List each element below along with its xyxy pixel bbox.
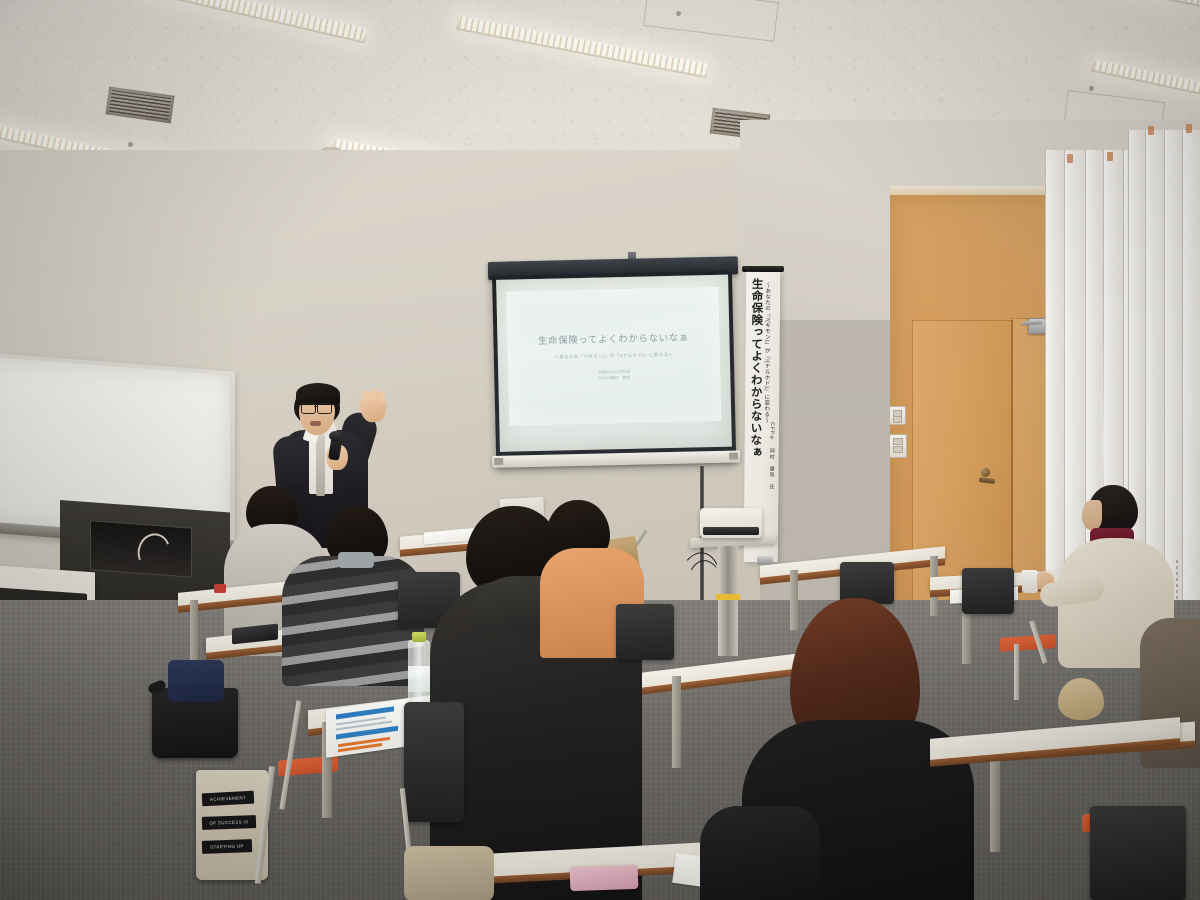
bottle-cap[interactable] [412, 632, 426, 642]
projection-screen-surface: 生命保険ってよくわからないなぁ ～あなたの「?(ギモン)」が「!(ナルホド)」に… [496, 275, 732, 452]
blind-clip-icon [1107, 152, 1113, 161]
tote-label-line2: OF SUCCESS IS [202, 815, 256, 830]
chair-frame [1014, 644, 1019, 700]
screen-bar-end-left [494, 458, 503, 465]
glasses-icon [301, 403, 316, 414]
slide-subtitle: ～あなたの「?(ギモン)」が「!(ナルホド)」に変わる～ [554, 352, 674, 361]
chair[interactable] [404, 702, 464, 822]
handbag[interactable] [1058, 678, 1104, 720]
projector-front-panel [703, 527, 759, 535]
banner-sub-text: ～あなたの「?(ギモン)」が「!(ナルホド)」に変わる～ [763, 282, 770, 423]
water-bottle[interactable] [408, 640, 430, 706]
blind-clip-icon [1148, 126, 1154, 135]
audience-trousers [404, 846, 494, 900]
desk-leg [990, 752, 1000, 852]
blue-bag[interactable] [168, 660, 224, 702]
audience-person [700, 806, 820, 900]
presenter-finger [370, 388, 377, 402]
glasses-bridge-icon [314, 406, 317, 407]
tote-label-line3: STARTING UP [202, 839, 252, 854]
paper-cup[interactable] [1022, 570, 1037, 590]
light-switch[interactable] [889, 434, 907, 458]
presenter-tie [316, 434, 325, 496]
ceiling-fixture-dot [676, 11, 681, 16]
projection-screen: 生命保険ってよくわからないなぁ ～あなたの「?(ギモン)」が「!(ナルホド)」に… [492, 271, 736, 468]
seminar-room-photo: 生命保険ってよくわからないなぁ ～あなたの「?(ギモン)」が「!(ナルホド)」に… [0, 0, 1200, 900]
glasses-icon [317, 403, 332, 414]
banner-main-text: 生命保険ってよくわからないなぁ [749, 278, 762, 458]
ceiling-fixture-dot [1089, 86, 1094, 91]
projector[interactable] [700, 508, 762, 538]
light-switch[interactable] [889, 406, 906, 425]
audience-neck [338, 552, 374, 568]
bottle-label [408, 666, 430, 692]
screen-bar-end-right [729, 452, 738, 459]
presentation-slide: 生命保険ってよくわからないなぁ ～あなたの「?(ギモン)」が「!(ナルホド)」に… [506, 287, 721, 426]
chair[interactable] [1090, 806, 1186, 900]
presenter-finger [379, 391, 386, 403]
ceiling-fixture-dot [128, 142, 133, 147]
small-object-on-desk[interactable] [214, 584, 226, 593]
banner-credential-text: CFP® 岡村 健司 氏 [768, 422, 775, 490]
desk-leg [790, 570, 798, 630]
tote-label-line1: ACHIEVEMENT [202, 791, 255, 807]
presenter-hair-top [296, 383, 340, 405]
chair[interactable] [962, 568, 1014, 614]
desk-leg [672, 676, 681, 768]
microphone-head-icon [329, 431, 342, 441]
slide-title: 生命保険ってよくわからないなぁ [538, 330, 689, 347]
presenter-mouth [310, 421, 321, 426]
audience-face [1082, 500, 1102, 530]
slide-presenter: CFP® 岡村 健司 [598, 375, 630, 382]
chair[interactable] [616, 604, 674, 660]
smartphone[interactable] [570, 865, 639, 891]
blind-clip-icon [1067, 154, 1073, 163]
door-knob-icon[interactable] [981, 468, 990, 477]
blind-clip-icon [1186, 124, 1192, 133]
